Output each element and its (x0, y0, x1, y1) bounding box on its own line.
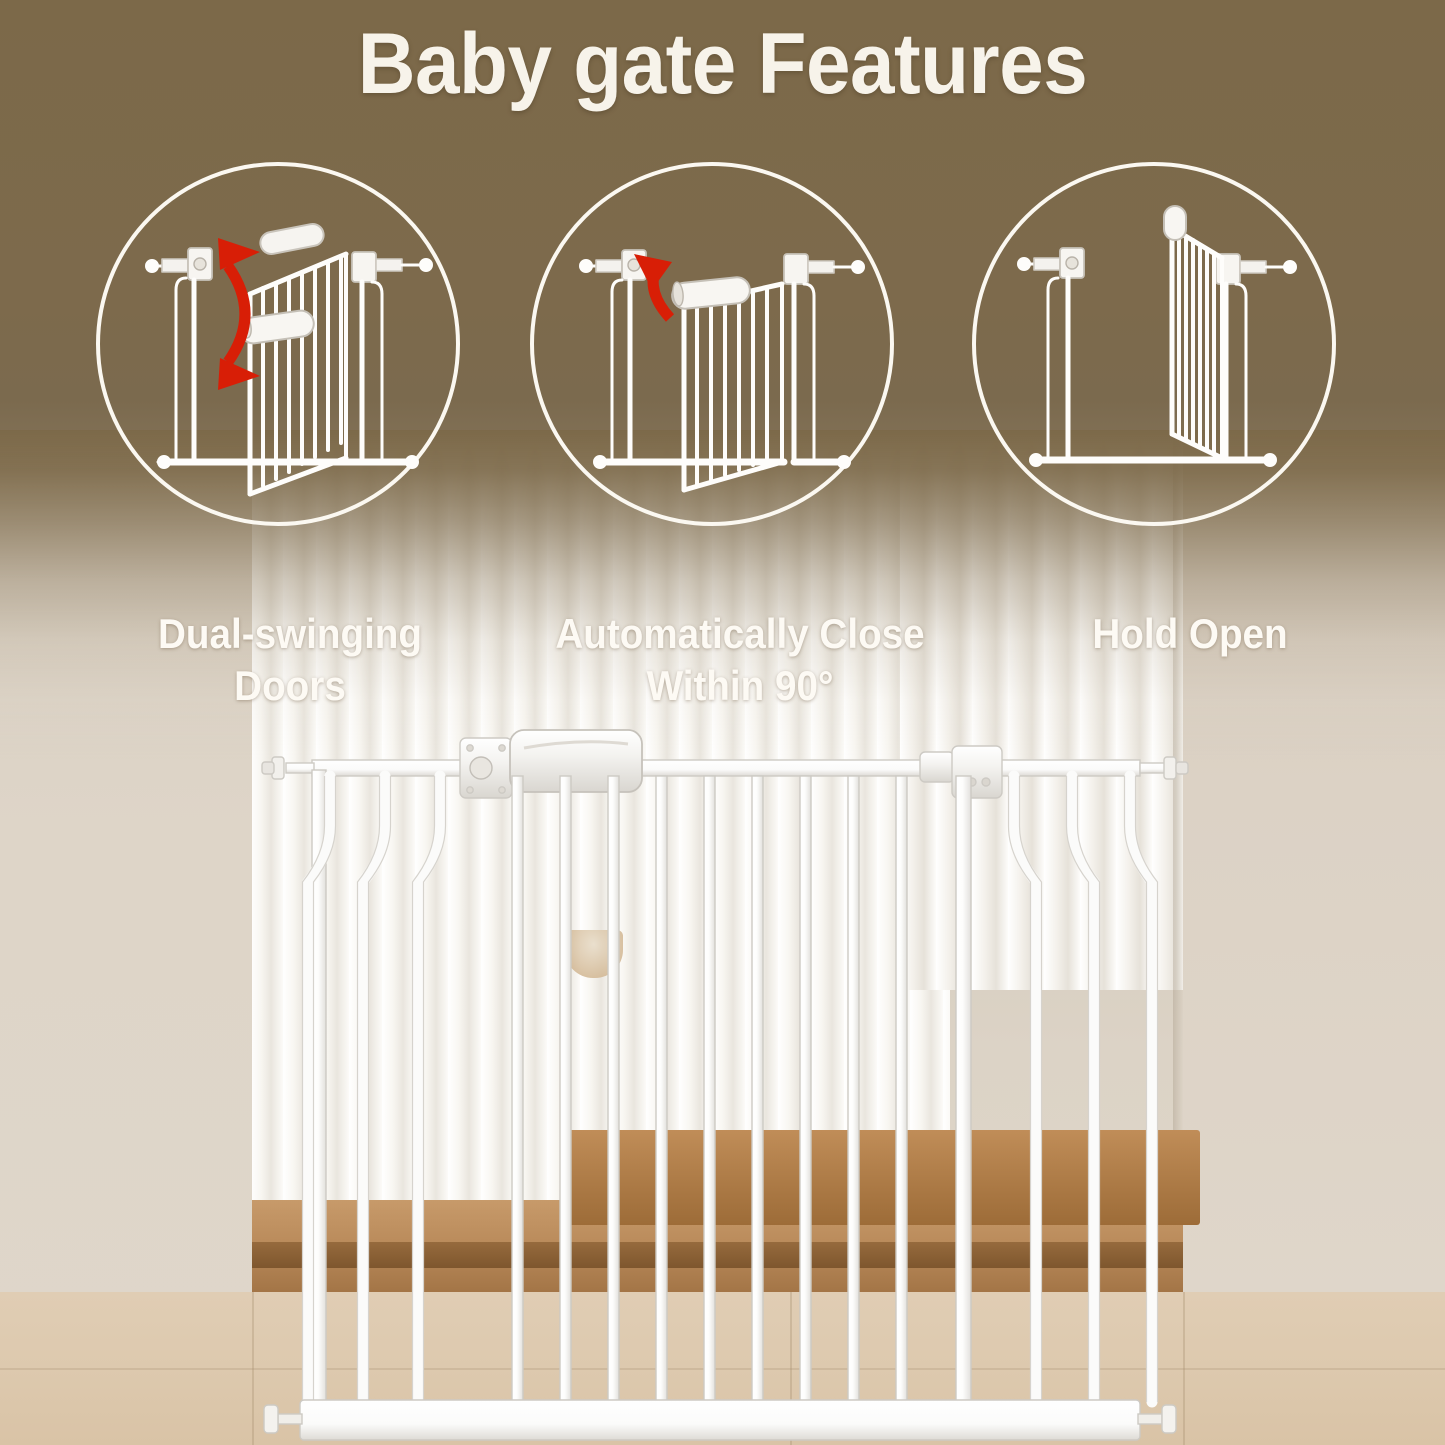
swing-arrow-icon (634, 254, 672, 318)
poster-root: Baby gate Features (0, 0, 1445, 1445)
feature-circle-automatically-close (530, 162, 894, 526)
caption-dual-swinging-doors: Dual-swinging Doors (115, 608, 465, 712)
gate-icon-auto-close (534, 166, 890, 522)
feature-circles-row (0, 150, 1445, 570)
wood-floor-shadow (252, 1242, 1183, 1268)
page-title: Baby gate Features (51, 16, 1395, 112)
swing-arrow-icon (218, 238, 260, 390)
feature-circle-hold-open (972, 162, 1336, 526)
gate-icon-dual-swing (100, 166, 456, 522)
caption-hold-open: Hold Open (1015, 608, 1365, 660)
gate-icon-hold-open (976, 166, 1332, 522)
room-photo-scene (0, 430, 1445, 1445)
caption-automatically-close: Automatically Close Within 90° (510, 608, 970, 712)
feature-captions: Dual-swinging Doors Automatically Close … (0, 600, 1445, 720)
feature-circle-dual-swinging-doors (96, 162, 460, 526)
bed-base (560, 1130, 1200, 1225)
tile-seam-horizontal (0, 1368, 1445, 1370)
